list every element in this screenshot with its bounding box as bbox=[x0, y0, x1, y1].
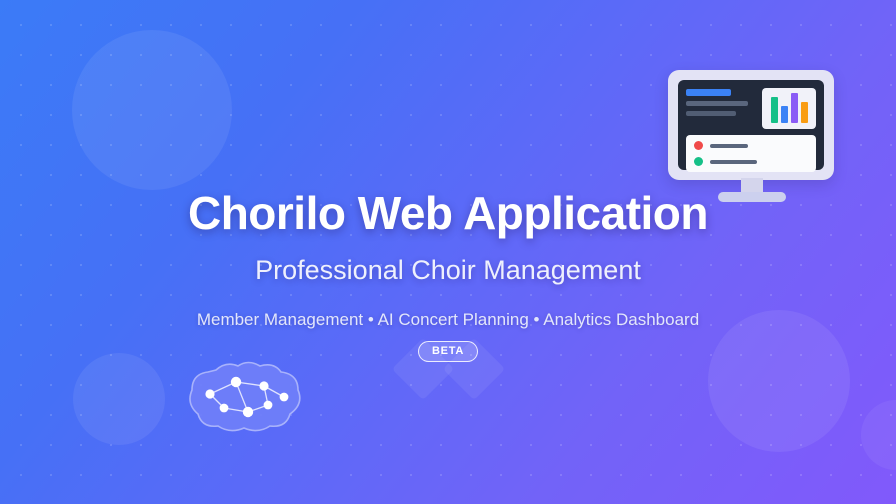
decorative-circle-top-left bbox=[72, 30, 232, 190]
list-item-line bbox=[710, 144, 748, 148]
hero-text-block: Chorilo Web Application Professional Cho… bbox=[0, 186, 896, 362]
monitor-bezel bbox=[668, 70, 834, 180]
status-dot-green-icon bbox=[694, 157, 703, 166]
screen-list-card bbox=[686, 135, 816, 172]
list-item bbox=[694, 141, 808, 150]
screen-top-section bbox=[686, 88, 816, 129]
page-title: Chorilo Web Application bbox=[0, 186, 896, 240]
feature-list: Member Management • AI Concert Planning … bbox=[0, 309, 896, 331]
chart-bar bbox=[791, 93, 798, 123]
page-subtitle: Professional Choir Management bbox=[0, 254, 896, 286]
decorative-circle-right-edge bbox=[861, 400, 896, 470]
hero-banner: Chorilo Web Application Professional Cho… bbox=[0, 0, 896, 504]
list-item bbox=[694, 157, 808, 166]
list-item-line bbox=[710, 160, 757, 164]
screen-text-line bbox=[686, 101, 748, 106]
screen-bar-chart-card bbox=[762, 88, 816, 129]
monitor-illustration bbox=[668, 70, 834, 202]
screen-text-column bbox=[686, 88, 754, 129]
screen-text-line bbox=[686, 111, 736, 116]
chart-bar bbox=[781, 106, 788, 123]
beta-badge: BETA bbox=[418, 341, 478, 362]
status-dot-red-icon bbox=[694, 141, 703, 150]
monitor-screen bbox=[678, 80, 824, 170]
network-cloud-illustration bbox=[186, 360, 304, 434]
chart-bar bbox=[771, 97, 778, 123]
screen-title-bar bbox=[686, 89, 731, 96]
decorative-circle-bottom-left bbox=[73, 353, 165, 445]
chart-bar bbox=[801, 102, 808, 123]
